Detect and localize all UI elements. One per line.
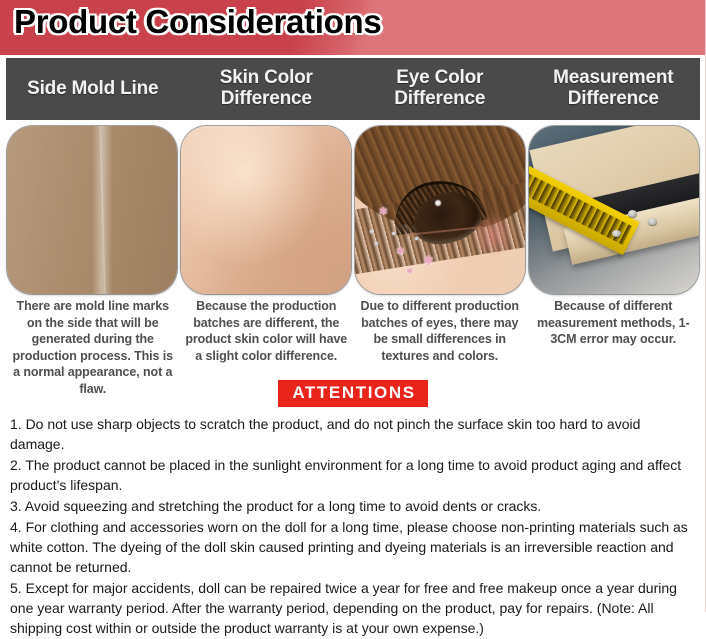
panel-measurement-difference xyxy=(529,126,699,294)
column-heading-measurement-difference: Measurement Difference xyxy=(527,58,701,120)
tan-doll-skin-with-mold-line-photo xyxy=(7,126,177,294)
column-heading-side-mold-line: Side Mold Line xyxy=(6,58,180,120)
panel-eye-color-difference: ✱ ✱ ✱ ✱ xyxy=(355,126,525,294)
glitter-dot-icon xyxy=(415,237,418,240)
yellow-ruler-on-wood-photo xyxy=(529,126,699,294)
note-item: 4. For clothing and accessories worn on … xyxy=(10,517,694,577)
star-glitter-icon: ✱ xyxy=(423,254,434,267)
column-heading-bar: Side Mold Line Skin Color Difference Eye… xyxy=(0,58,706,120)
panel-side-mold-line xyxy=(7,126,177,294)
note-item: 2. The product cannot be placed in the s… xyxy=(10,455,694,495)
header-banner: Product Considerations xyxy=(0,0,706,55)
attentions-banner: ATTENTIONS xyxy=(0,380,706,407)
star-glitter-icon: ✱ xyxy=(396,247,405,258)
attentions-label: ATTENTIONS xyxy=(278,380,427,407)
note-item: 5. Except for major accidents, doll can … xyxy=(10,578,694,638)
note-item: 1. Do not use sharp objects to scratch t… xyxy=(10,414,694,454)
doll-eye-closeup-photo: ✱ ✱ ✱ ✱ xyxy=(355,126,525,294)
panel-skin-color-difference xyxy=(181,126,351,294)
pink-beige-doll-skin-swatch-photo xyxy=(181,126,351,294)
eye-highlight-shape xyxy=(435,200,441,206)
column-heading-skin-color-difference: Skin Color Difference xyxy=(180,58,354,120)
note-item: 3. Avoid squeezing and stretching the pr… xyxy=(10,496,694,516)
star-glitter-icon: ✱ xyxy=(379,207,388,218)
star-glitter-icon: ✱ xyxy=(406,267,414,276)
notes-list: 1. Do not use sharp objects to scratch t… xyxy=(0,414,706,639)
page-title: Product Considerations xyxy=(14,3,381,41)
screw-head-icon xyxy=(628,210,637,217)
column-heading-eye-color-difference: Eye Color Difference xyxy=(353,58,527,120)
cheek-blush-shape xyxy=(471,213,515,257)
image-panel-row: ✱ ✱ ✱ ✱ xyxy=(0,126,706,298)
